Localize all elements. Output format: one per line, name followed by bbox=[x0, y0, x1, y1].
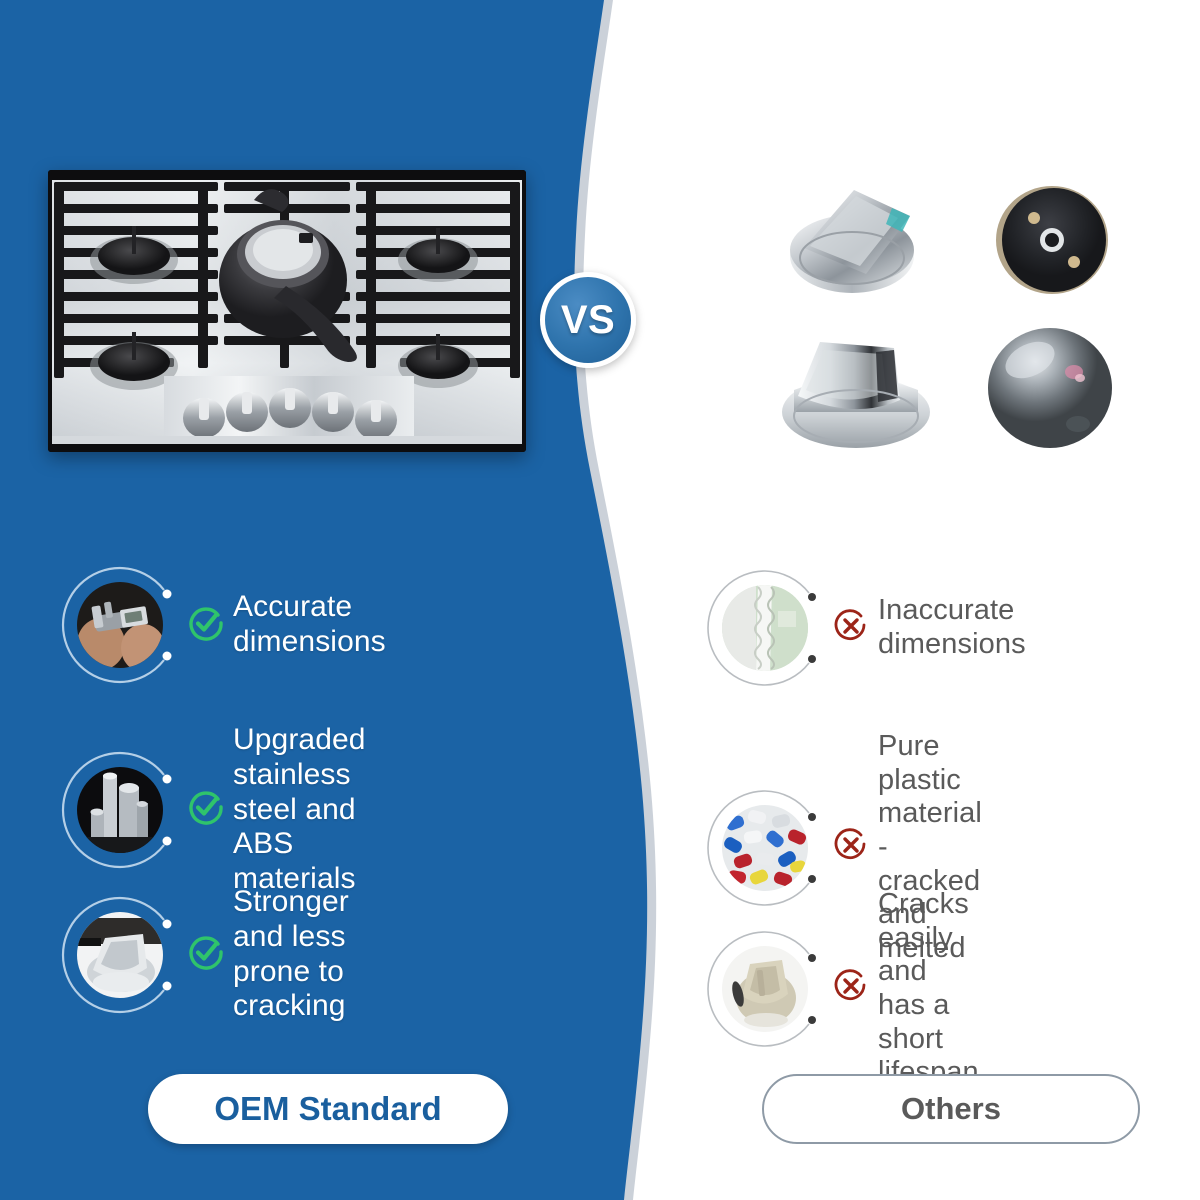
feature-thumbnail bbox=[715, 578, 815, 678]
others-label: Others bbox=[901, 1091, 1001, 1127]
feature-thumbnail bbox=[715, 798, 815, 898]
feature-label: Stronger and less prone to cracking bbox=[233, 885, 349, 1024]
feature-row: Stronger and less prone to cracking bbox=[70, 885, 349, 1024]
feature-label: Upgraded stainless steel and ABS materia… bbox=[233, 723, 366, 897]
feature-thumbnail bbox=[70, 905, 170, 1005]
feature-row: Cracks easily and has a short lifespan bbox=[715, 888, 979, 1090]
check-circle-icon bbox=[188, 789, 224, 830]
cross-circle-icon bbox=[833, 827, 869, 868]
competitor-product-images bbox=[760, 160, 1140, 460]
feature-label: Inaccurate dimensions bbox=[878, 594, 1026, 661]
feature-thumbnail bbox=[70, 760, 170, 860]
chrome-knob-angled-image bbox=[770, 170, 940, 305]
oem-standard-label: OEM Standard bbox=[214, 1090, 441, 1128]
feature-row: Upgraded stainless steel and ABS materia… bbox=[70, 723, 366, 897]
comparison-infographic: VS bbox=[0, 0, 1200, 1200]
black-knob-back-plate-image bbox=[982, 174, 1122, 304]
beige-plastic-knob-photo bbox=[722, 946, 808, 1032]
chrome-knob-front-image bbox=[764, 320, 944, 455]
caliper-measuring-knob-photo bbox=[77, 582, 163, 668]
vs-label: VS bbox=[561, 298, 615, 343]
feature-row: Accurate dimensions bbox=[70, 575, 386, 675]
vs-badge: VS bbox=[540, 272, 636, 368]
colored-plastic-pellets-photo bbox=[722, 805, 808, 891]
stainless-steel-rods-photo bbox=[77, 767, 163, 853]
cross-circle-icon bbox=[833, 968, 869, 1009]
others-pill[interactable]: Others bbox=[762, 1074, 1140, 1144]
check-circle-icon bbox=[188, 605, 224, 646]
feature-label: Accurate dimensions bbox=[233, 590, 386, 660]
feature-thumbnail bbox=[715, 939, 815, 1039]
feature-thumbnail bbox=[70, 575, 170, 675]
polished-chrome-knob-image bbox=[978, 320, 1128, 455]
check-circle-icon bbox=[188, 934, 224, 975]
metal-knob-closeup-photo bbox=[77, 912, 163, 998]
cross-circle-icon bbox=[833, 608, 869, 649]
gas-cooktop-image bbox=[48, 170, 526, 452]
oem-standard-pill[interactable]: OEM Standard bbox=[148, 1074, 508, 1144]
feature-label: Cracks easily and has a short lifespan bbox=[878, 888, 979, 1090]
feature-row: Inaccurate dimensions bbox=[715, 578, 1026, 678]
cracked-plastic-edge-photo bbox=[722, 585, 808, 671]
